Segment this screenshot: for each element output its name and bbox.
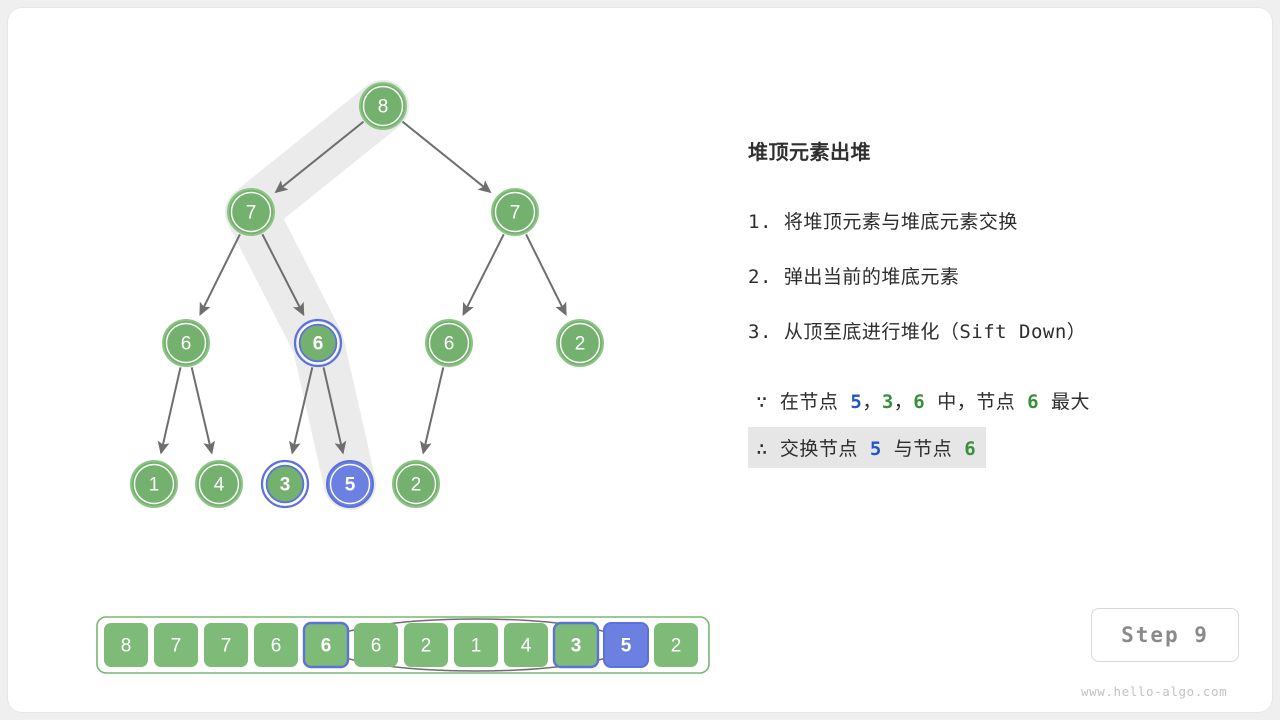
because-sep-1: ，: [862, 391, 882, 413]
sift-down-path-highlight: [251, 106, 383, 484]
tree-node: 5: [327, 461, 373, 507]
step-item-3: 3. 从顶至底进行堆化（Sift Down）: [748, 317, 1228, 344]
array-cell: 4: [504, 623, 548, 667]
tree-node: 8: [360, 83, 406, 129]
step-badge: Step 9: [1091, 608, 1239, 662]
node-value: 3: [280, 475, 291, 496]
array-cell: 1: [454, 623, 498, 667]
array-cell-value: 2: [671, 636, 682, 657]
array-cell: 2: [404, 623, 448, 667]
array-cell-value: 1: [471, 636, 482, 657]
node-value: 5: [345, 475, 356, 496]
conclusion-prefix: 交换节点: [780, 438, 870, 460]
tree-node: 6: [426, 320, 472, 366]
heap-array-representation: 877666214352: [88, 598, 718, 688]
array-cell: 6: [304, 623, 348, 667]
array-cell-value: 6: [321, 636, 332, 657]
array-cell-value: 2: [421, 636, 432, 657]
array-cell: 8: [104, 623, 148, 667]
because-middle: 中，节点: [925, 391, 1027, 413]
because-sep-2: ，: [894, 391, 914, 413]
binary-tree-diagram: 877666214352: [8, 8, 728, 568]
node-value: 4: [214, 475, 225, 496]
tree-edge: [463, 234, 503, 314]
node-value: 2: [411, 475, 422, 496]
conclusion-value-1: 5: [870, 438, 882, 460]
tree-edge: [200, 234, 240, 314]
reasoning-block: ∵ 在节点 5，3，6 中，节点 6 最大 ∴ 交换节点 5 与节点 6: [748, 380, 1228, 468]
array-cells: 877666214352: [104, 623, 698, 667]
array-cell: 2: [654, 623, 698, 667]
array-cell: 6: [354, 623, 398, 667]
highlight-band: [251, 106, 383, 484]
node-value: 6: [444, 334, 455, 355]
tree-edge: [192, 367, 212, 452]
array-cell-value: 8: [121, 636, 132, 657]
tree-node: 6: [295, 320, 341, 366]
node-value: 2: [575, 334, 586, 355]
because-suffix: 最大: [1039, 391, 1090, 413]
array-cell: 7: [204, 623, 248, 667]
tree-node: 2: [393, 461, 439, 507]
because-line: ∵ 在节点 5，3，6 中，节点 6 最大: [748, 380, 1100, 421]
tree-node: 3: [262, 461, 308, 507]
array-cell: 3: [554, 623, 598, 667]
because-prefix: 在节点: [780, 391, 850, 413]
page-root: 877666214352 877666214352 堆顶元素出堆 1. 将堆顶元…: [0, 0, 1280, 720]
array-cell-value: 4: [521, 636, 532, 657]
array-cell-value: 7: [171, 636, 182, 657]
conclusion-middle: 与节点: [882, 438, 964, 460]
step-item-1: 1. 将堆顶元素与堆底元素交换: [748, 207, 1228, 234]
node-value: 1: [149, 475, 160, 496]
array-cell-value: 3: [571, 636, 582, 657]
because-value-1: 5: [850, 391, 862, 413]
because-value-4: 6: [1027, 391, 1039, 413]
tree-edge: [526, 234, 566, 314]
tree-node: 1: [131, 461, 177, 507]
tree-node: 6: [163, 320, 209, 366]
because-value-2: 3: [882, 391, 894, 413]
tree-edges: [161, 122, 566, 453]
because-symbol: ∵: [756, 391, 768, 413]
array-cell-value: 5: [621, 636, 632, 657]
array-cell-value: 6: [271, 636, 282, 657]
therefore-symbol: ∴: [756, 438, 768, 460]
array-cell-value: 7: [221, 636, 232, 657]
conclusion-value-2: 6: [964, 438, 976, 460]
tree-node: 7: [228, 189, 274, 235]
node-value: 6: [313, 334, 324, 355]
diagram-card: 877666214352 877666214352 堆顶元素出堆 1. 将堆顶元…: [8, 8, 1272, 712]
tree-node: 2: [557, 320, 603, 366]
watermark: www.hello-algo.com: [1081, 684, 1227, 699]
tree-edge: [161, 367, 180, 452]
node-value: 7: [510, 203, 521, 224]
explanation-panel: 堆顶元素出堆 1. 将堆顶元素与堆底元素交换 2. 弹出当前的堆底元素 3. 从…: [748, 136, 1228, 468]
because-value-3: 6: [913, 391, 925, 413]
step-item-2: 2. 弹出当前的堆底元素: [748, 262, 1228, 289]
array-cell-value: 6: [371, 636, 382, 657]
tree-edge: [402, 122, 490, 192]
tree-node: 7: [492, 189, 538, 235]
node-value: 8: [378, 97, 389, 118]
array-cell: 5: [604, 623, 648, 667]
node-value: 7: [246, 203, 257, 224]
tree-node: 4: [196, 461, 242, 507]
array-cell: 6: [254, 623, 298, 667]
page-title: 堆顶元素出堆: [748, 136, 1228, 165]
node-value: 6: [181, 334, 192, 355]
array-cell: 7: [154, 623, 198, 667]
conclusion-line: ∴ 交换节点 5 与节点 6: [748, 427, 986, 468]
tree-edge: [423, 367, 443, 452]
